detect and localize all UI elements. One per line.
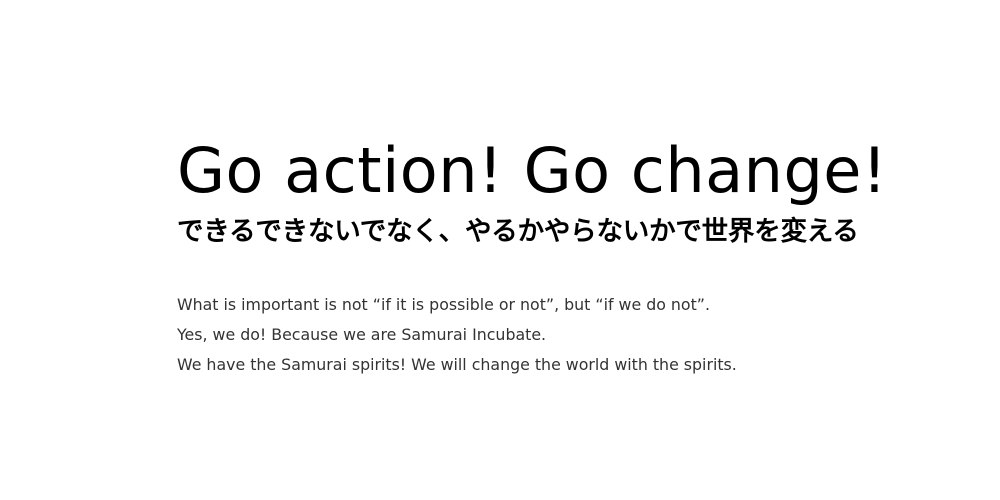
- slide-subtitle-japanese: できるできないでなく、やるかやらないかで世界を変える: [177, 216, 977, 248]
- slide-canvas: Go action! Go change! できるできないでなく、やるかやらない…: [0, 0, 1000, 500]
- body-line: We have the Samurai spirits! We will cha…: [177, 350, 977, 380]
- slide-body-block: What is important is not “if it is possi…: [177, 290, 977, 380]
- body-line: Yes, we do! Because we are Samurai Incub…: [177, 320, 977, 350]
- slide-headline: Go action! Go change!: [177, 140, 977, 202]
- slide-content: Go action! Go change! できるできないでなく、やるかやらない…: [177, 140, 977, 380]
- body-line: What is important is not “if it is possi…: [177, 290, 977, 320]
